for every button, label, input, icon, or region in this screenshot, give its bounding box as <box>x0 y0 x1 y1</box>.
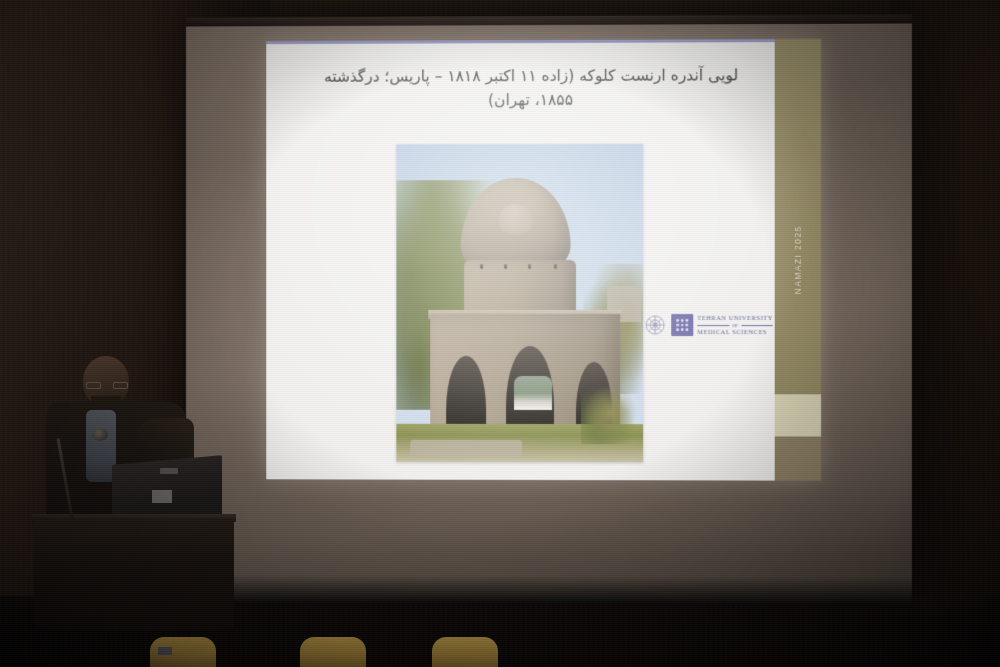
laptop-logo <box>160 468 178 474</box>
slide-side-band: NAMAZI 2025 <box>775 39 821 481</box>
slide-title-line-1: لویی آندره ارنست کلوکه (زاده ۱۱ اکتبر ۱۸… <box>324 66 738 85</box>
slide-title: لویی آندره ارنست کلوکه (زاده ۱۱ اکتبر ۱۸… <box>294 63 769 113</box>
photo-drum-hole <box>528 264 531 269</box>
speaker-glasses-icon <box>86 382 128 389</box>
audience-seat <box>432 637 498 667</box>
photo-drum-hole <box>480 264 483 269</box>
slide-band-label: NAMAZI 2025 <box>793 225 803 294</box>
photo-dome-tip <box>498 204 532 234</box>
logo-divider: OF <box>697 323 773 328</box>
podium <box>34 518 234 630</box>
photo-arch-window <box>514 376 552 410</box>
logo-connector: OF <box>732 323 738 328</box>
audience-seat <box>150 637 216 667</box>
audience-seat <box>300 637 366 667</box>
logo-seal-icon <box>643 313 667 337</box>
lecture-hall-scene: لویی آندره ارنست کلوکه (زاده ۱۱ اکتبر ۱۸… <box>0 0 1000 667</box>
slide-band-footer <box>775 436 821 480</box>
laptop-sticker <box>152 490 172 503</box>
photo-drum-hole <box>553 264 556 269</box>
slide-band-panel <box>775 394 821 436</box>
slide-title-line-2: ۱۸۵۵، تهران) <box>488 91 573 109</box>
logo-line-1: TEHRAN UNIVERSITY <box>697 315 773 322</box>
microphone-head <box>92 428 108 441</box>
speaker-at-podium <box>28 340 263 630</box>
photo-drum-hole <box>504 264 507 269</box>
university-logo: TEHRAN UNIVERSITY OF MEDICAL SCIENCES <box>643 308 755 342</box>
projection-screen: لویی آندره ارنست کلوکه (زاده ۱۱ اکتبر ۱۸… <box>186 14 912 605</box>
photo-bush <box>581 382 639 444</box>
screen-bottom-shadow <box>186 575 912 606</box>
slide-photograph <box>396 144 643 462</box>
projected-slide: لویی آندره ارنست کلوکه (زاده ۱۱ اکتبر ۱۸… <box>266 39 821 481</box>
logo-emblem-icon <box>671 314 693 336</box>
photo-path <box>410 440 522 458</box>
logo-text-block: TEHRAN UNIVERSITY OF MEDICAL SCIENCES <box>697 315 773 336</box>
logo-line-2: MEDICAL SCIENCES <box>697 329 773 336</box>
